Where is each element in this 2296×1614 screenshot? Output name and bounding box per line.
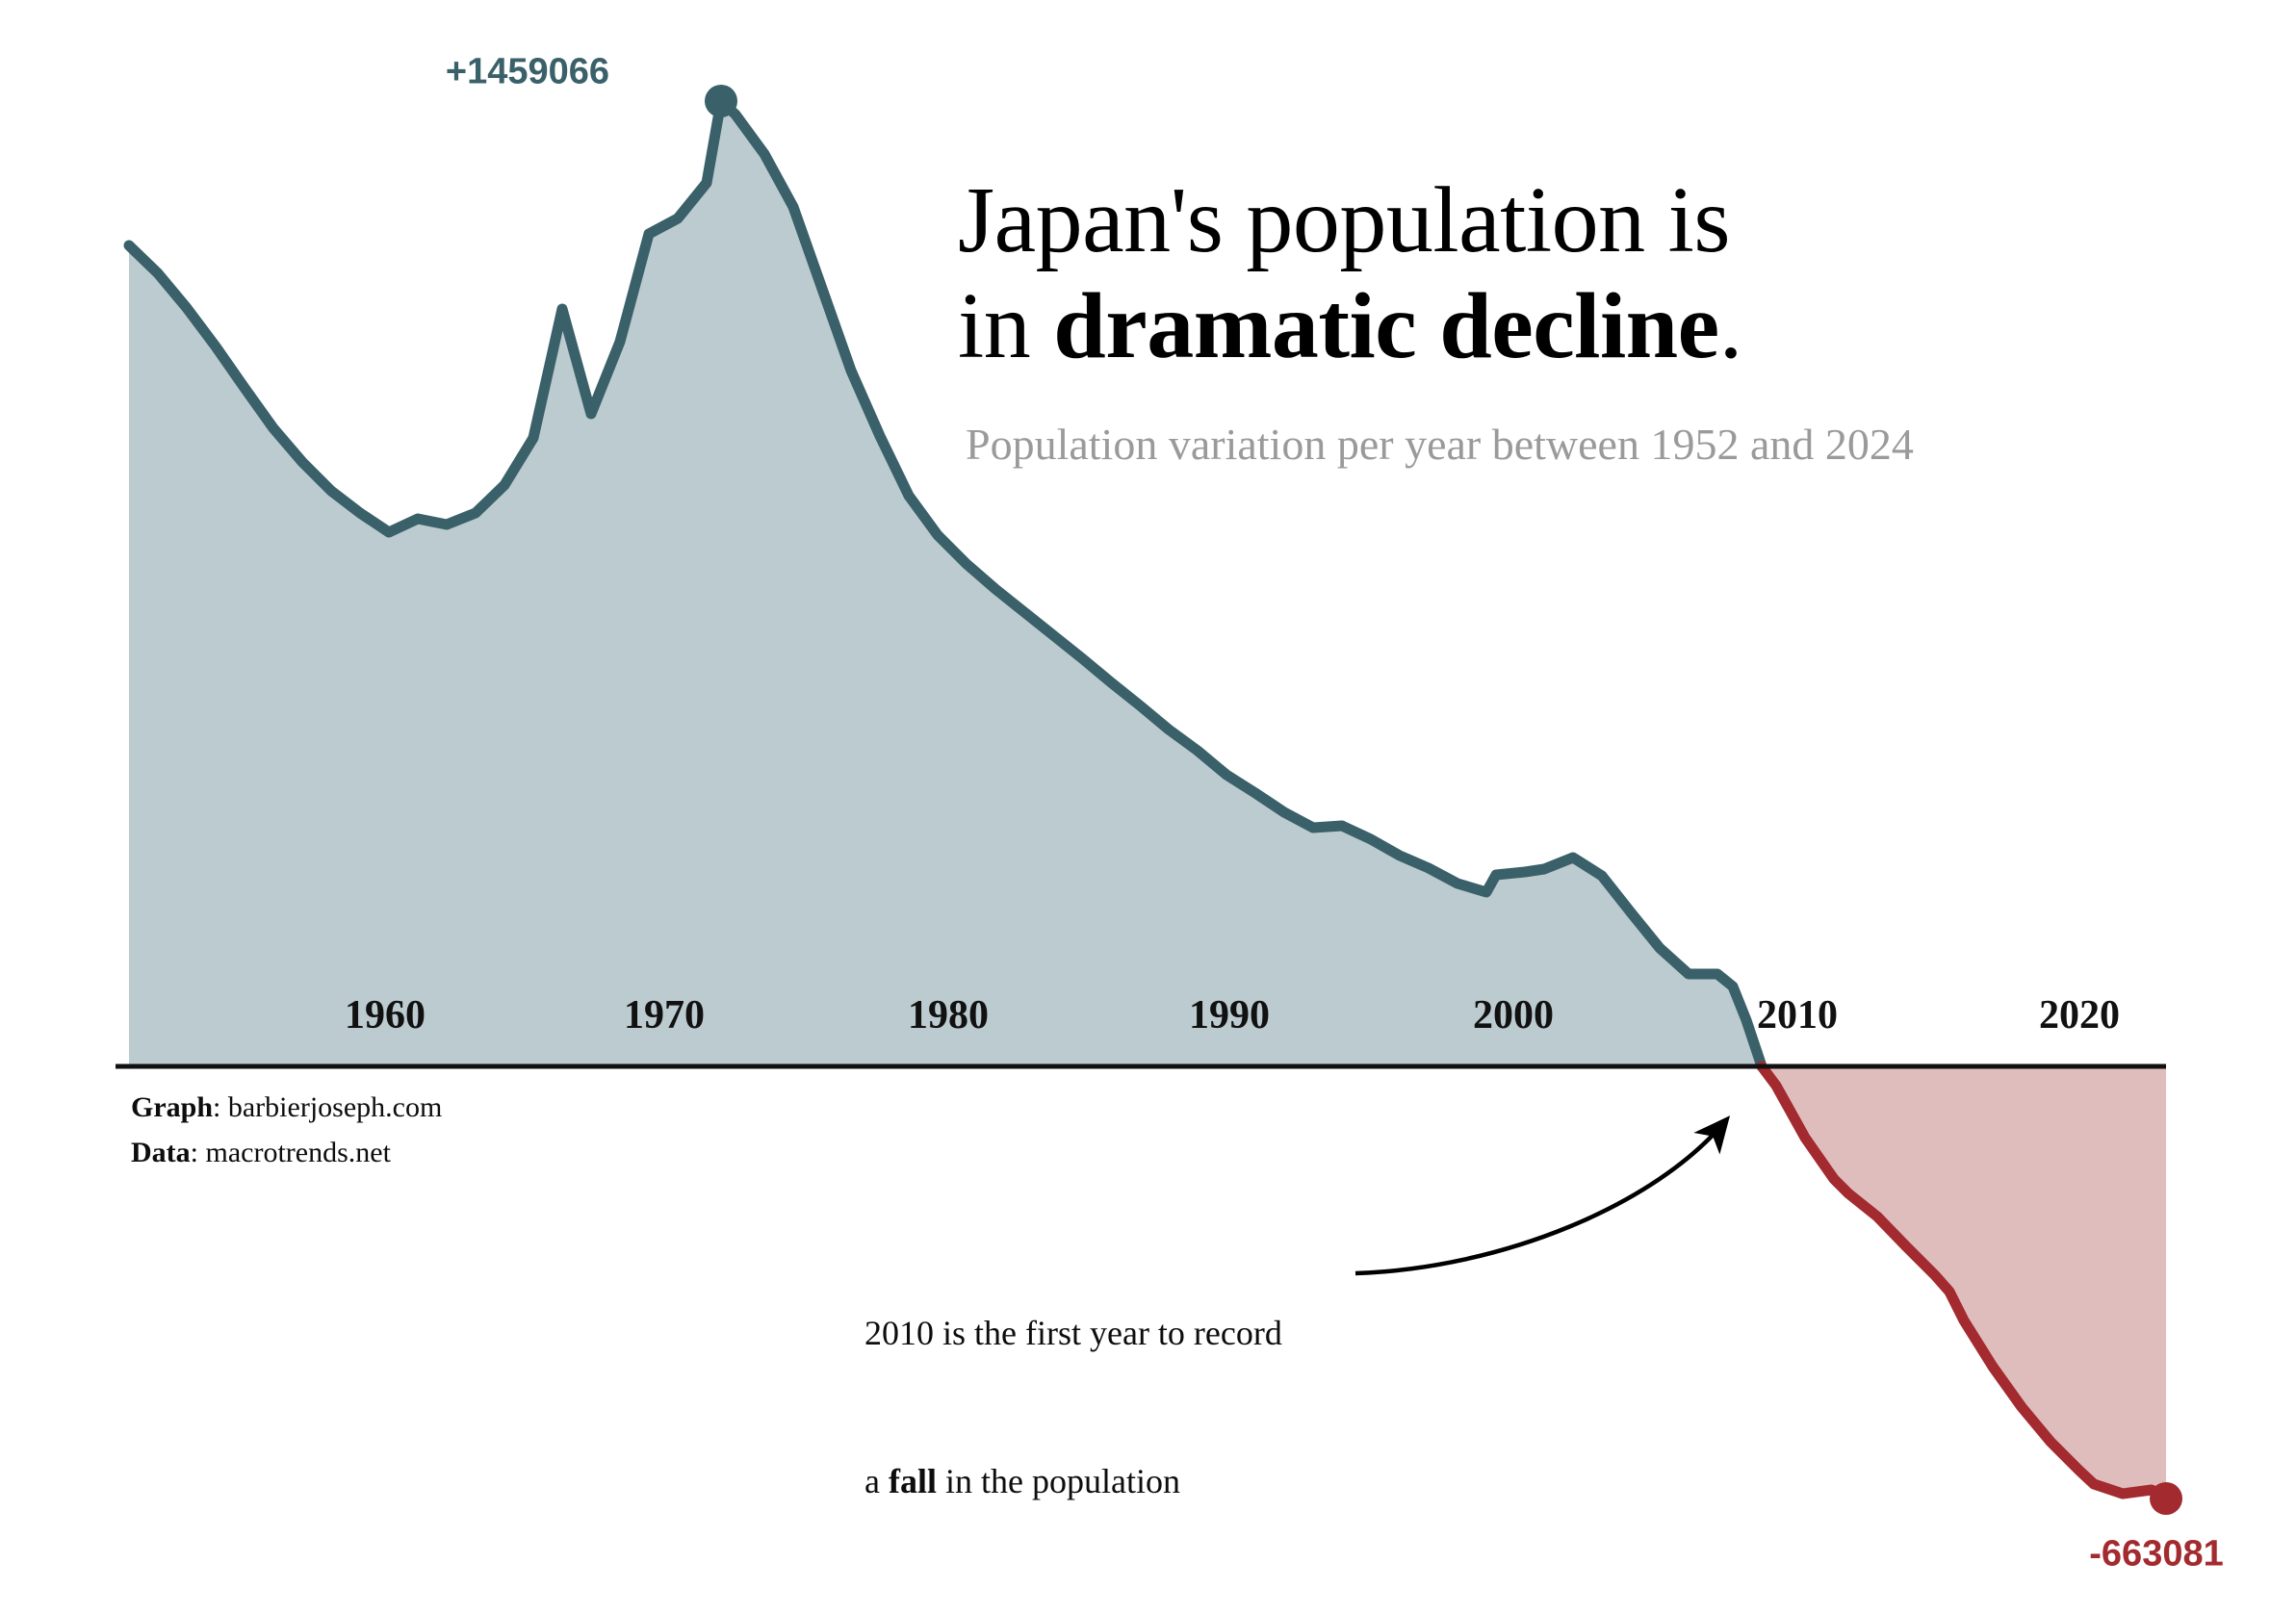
headline-line-2-plain: in xyxy=(958,274,1053,378)
peak-marker-dot xyxy=(705,85,737,117)
credit-data-key: Data xyxy=(131,1137,191,1168)
x-tick-1980: 1980 xyxy=(908,992,989,1038)
annotation-line-1: 2010 is the first year to record xyxy=(864,1309,1282,1358)
x-tick-2000: 2000 xyxy=(1473,992,1554,1038)
annotation-line-2-emphasis: fall xyxy=(889,1462,937,1500)
subtitle: Population variation per year between 19… xyxy=(966,419,1914,470)
x-tick-1990: 1990 xyxy=(1189,992,1270,1038)
credit-data-value: : macrotrends.net xyxy=(191,1137,391,1168)
x-tick-1960: 1960 xyxy=(345,992,426,1038)
headline-line-2: in dramatic decline. xyxy=(958,274,2075,380)
credit-graph-line: Graph: barbierjoseph.com xyxy=(131,1086,442,1131)
annotation-text: 2010 is the first year to record a fall … xyxy=(864,1211,1282,1604)
peak-value-label: +1459066 xyxy=(446,52,609,93)
x-tick-2010: 2010 xyxy=(1757,992,1838,1038)
annotation-arrow xyxy=(1355,1120,1726,1273)
trough-marker-dot xyxy=(2150,1482,2182,1515)
credit-graph-key: Graph xyxy=(131,1091,213,1123)
x-tick-1970: 1970 xyxy=(624,992,705,1038)
credits-block: Graph: barbierjoseph.com Data: macrotren… xyxy=(131,1086,442,1175)
headline-block: Japan's population is in dramatic declin… xyxy=(958,168,2075,380)
credit-graph-value: : barbierjoseph.com xyxy=(213,1091,442,1123)
negative-area-fill xyxy=(1762,1066,2166,1499)
headline-line-2-period: . xyxy=(1719,274,1742,378)
x-tick-2020: 2020 xyxy=(2039,992,2120,1038)
annotation-line-2: a fall in the population xyxy=(864,1457,1282,1506)
credit-data-line: Data: macrotrends.net xyxy=(131,1131,442,1176)
infographic-canvas: Japan's population is in dramatic declin… xyxy=(0,0,2296,1614)
headline-line-2-emphasis: dramatic decline xyxy=(1053,274,1718,378)
trough-value-label: -663081 xyxy=(2089,1534,2223,1576)
headline-line-1: Japan's population is xyxy=(958,168,2075,274)
annotation-line-2-post: in the population xyxy=(937,1462,1180,1500)
annotation-line-2-pre: a xyxy=(864,1462,889,1500)
